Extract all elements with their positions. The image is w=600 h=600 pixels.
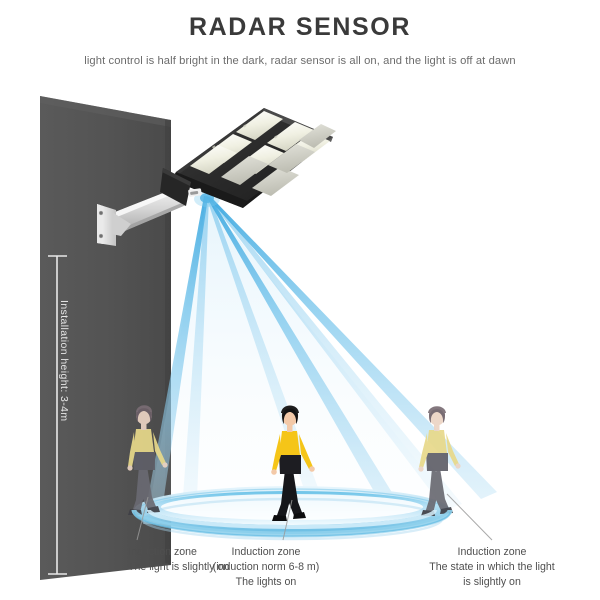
caption-right-zone: Induction zone The state in which the li… <box>429 545 554 590</box>
caption-middle-zone: Induction zone (induction norm 6-8 m) Th… <box>213 545 320 590</box>
caption-middle-line3: The lights on <box>213 575 320 590</box>
caption-right-line1: Induction zone <box>429 545 554 560</box>
caption-right-line3: is slightly on <box>429 575 554 590</box>
infographic-root: RADAR SENSOR light control is half brigh… <box>0 0 600 600</box>
caption-right-line2: The state in which the light <box>429 560 554 575</box>
scene-illustration <box>0 0 600 600</box>
radar-detection-beam <box>143 191 497 525</box>
caption-middle-line1: Induction zone <box>213 545 320 560</box>
caption-middle-line2: (induction norm 6-8 m) <box>213 560 320 575</box>
led-street-lamp <box>160 108 336 208</box>
